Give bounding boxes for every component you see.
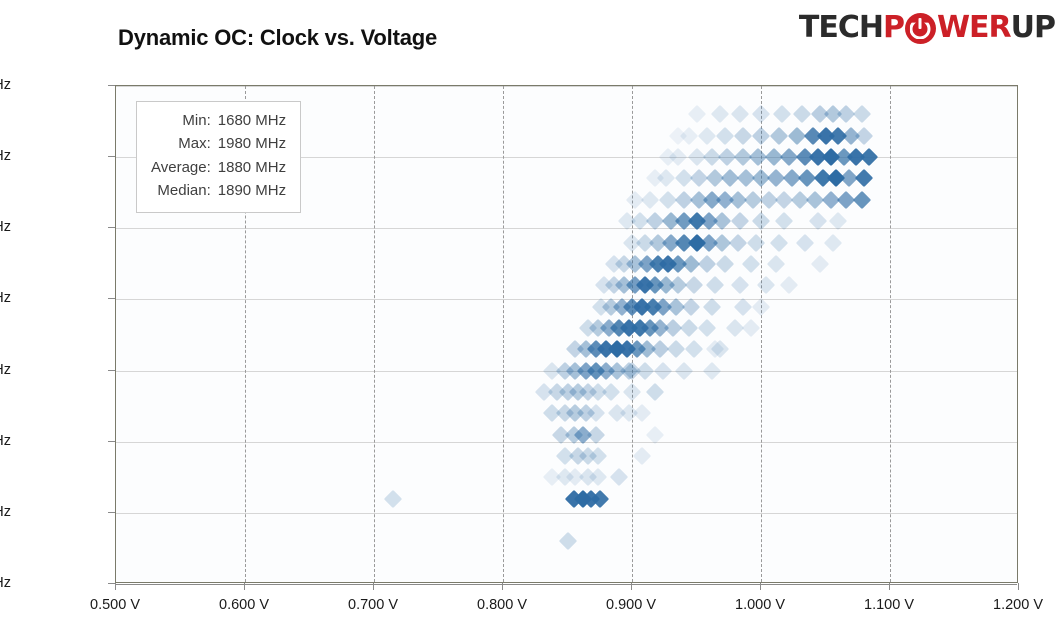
scatter-point [855,169,873,187]
power-button-icon [905,13,936,44]
chart-root: Dynamic OC: Clock vs. Voltage TECHPWERUP… [0,0,1063,634]
stats-row: Max:1980 MHz [151,132,286,155]
scatter-point [633,447,651,465]
y-axis-tick-label: 1700 MHz [0,504,11,520]
scatter-point [770,127,788,145]
scatter-point [685,340,703,358]
scatter-point [741,255,759,273]
gridline-vertical [503,86,504,582]
scatter-point [558,532,576,550]
gridline-vertical [374,86,375,582]
x-axis-tick-label: 0.900 V [606,597,656,613]
scatter-point [770,233,788,251]
stats-value: 1880 MHz [218,156,286,179]
scatter-point [793,105,811,123]
scatter-point [757,276,775,294]
y-axis-tick-mark [108,441,115,442]
x-axis-tick-mark [760,583,761,590]
scatter-point [752,105,770,123]
scatter-point [772,105,790,123]
logo-text-p: P [883,10,904,45]
y-axis-tick-label: 2000 MHz [0,77,11,93]
gridline-horizontal [116,86,1017,87]
gridline-vertical [890,86,891,582]
scatter-point [384,489,402,507]
scatter-point [589,447,607,465]
scatter-point [698,127,716,145]
scatter-point [852,105,870,123]
scatter-point [654,361,672,379]
scatter-point [625,191,643,209]
stats-value: 1980 MHz [218,132,286,155]
x-axis-tick-mark [889,583,890,590]
stats-row: Min:1680 MHz [151,109,286,132]
stats-value: 1680 MHz [218,109,286,132]
x-axis-tick-mark [244,583,245,590]
scatter-point [711,105,729,123]
scatter-point [716,255,734,273]
scatter-point [852,191,870,209]
x-axis-tick-label: 1.200 V [993,597,1043,613]
gridline-horizontal [116,442,1017,443]
y-axis-tick-label: 1650 MHz [0,575,11,591]
y-axis-tick-mark [108,512,115,513]
stats-label: Median: [157,179,210,202]
logo-text-wer: WER [937,10,1011,45]
gridline-horizontal [116,584,1017,585]
x-axis-tick-mark [502,583,503,590]
y-axis-tick-label: 1850 MHz [0,290,11,306]
scatter-point [860,148,878,166]
x-axis-tick-label: 0.700 V [348,597,398,613]
scatter-point [747,233,765,251]
x-axis-tick-label: 1.100 V [864,597,914,613]
logo-text-tech: TECH [799,10,883,45]
scatter-point [824,233,842,251]
x-axis-tick-label: 0.600 V [219,597,269,613]
stats-row: Median:1890 MHz [151,179,286,202]
x-axis-tick-label: 0.800 V [477,597,527,613]
scatter-point [680,319,698,337]
stats-value: 1890 MHz [218,179,286,202]
scatter-point [780,276,798,294]
y-axis-tick-mark [108,298,115,299]
y-axis-tick-mark [108,156,115,157]
scatter-point [796,233,814,251]
stats-label: Max: [178,132,211,155]
y-axis-tick-label: 1750 MHz [0,433,11,449]
y-axis-tick-mark [108,370,115,371]
scatter-point [855,127,873,145]
page-title: Dynamic OC: Clock vs. Voltage [118,25,437,51]
x-axis-tick-mark [373,583,374,590]
scatter-point [703,361,721,379]
gridline-horizontal [116,513,1017,514]
x-axis-tick-mark [115,583,116,590]
scatter-point [698,255,716,273]
scatter-point [705,276,723,294]
scatter-point [734,127,752,145]
y-axis-tick-label: 1900 MHz [0,219,11,235]
scatter-point [731,276,749,294]
logo-text-up: UP [1011,10,1055,45]
stats-label: Min: [182,109,210,132]
scatter-point [687,105,705,123]
x-axis-tick-mark [631,583,632,590]
x-axis-tick-label: 1.000 V [735,597,785,613]
y-axis-tick-label: 1950 MHz [0,148,11,164]
scatter-point [716,127,734,145]
scatter-point [646,383,664,401]
x-axis-tick-label: 0.500 V [90,597,140,613]
scatter-point [752,127,770,145]
scatter-point [729,233,747,251]
scatter-point [610,468,628,486]
scatter-point [741,319,759,337]
y-axis-tick-mark [108,583,115,584]
techpowerup-logo: TECHPWERUP [799,10,1055,45]
gridline-horizontal [116,299,1017,300]
y-axis-tick-label: 1800 MHz [0,362,11,378]
scatter-point [667,340,685,358]
scatter-point [731,105,749,123]
scatter-point [698,319,716,337]
y-axis-tick-mark [108,227,115,228]
gridline-horizontal [116,228,1017,229]
scatter-point [623,383,641,401]
scatter-point [633,404,651,422]
scatter-point [811,255,829,273]
scatter-point [674,361,692,379]
stats-row: Average:1880 MHz [151,156,286,179]
y-axis-tick-mark [108,85,115,86]
scatter-point [685,276,703,294]
scatter-point [602,383,620,401]
scatter-point [767,255,785,273]
x-axis-tick-mark [1018,583,1019,590]
stats-label: Average: [151,156,211,179]
stats-legend-box: Min:1680 MHzMax:1980 MHzAverage:1880 MHz… [136,101,301,213]
